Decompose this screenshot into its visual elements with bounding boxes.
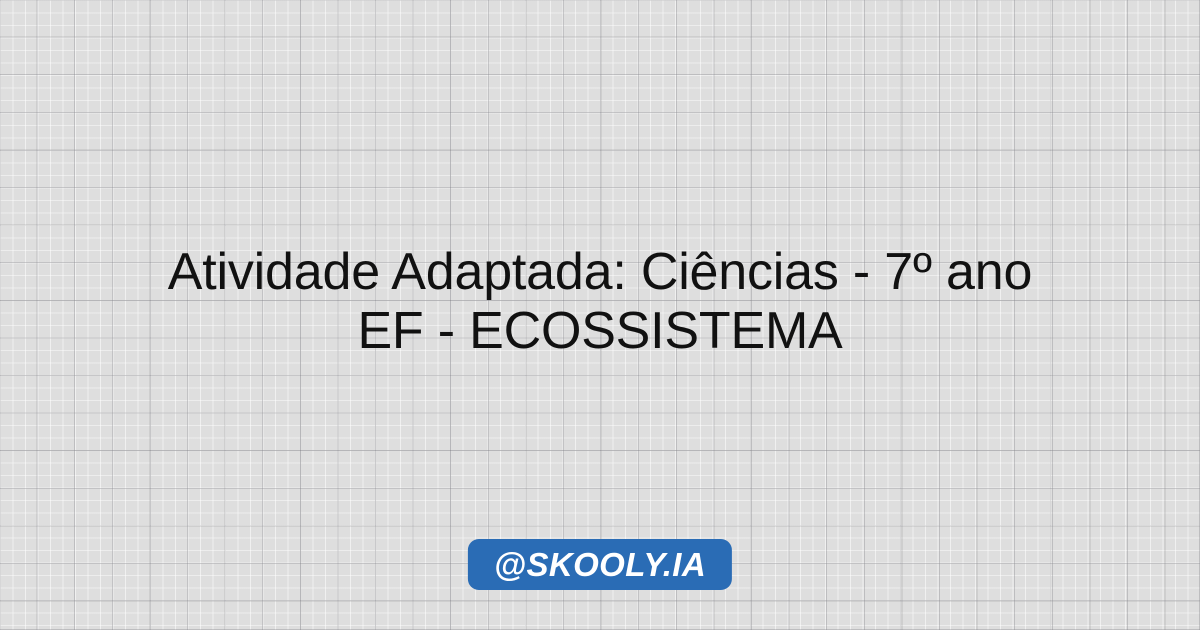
page-title: Atividade Adaptada: Ciências - 7º ano EF… bbox=[0, 243, 1200, 361]
page-title-line-2: EF - ECOSSISTEMA bbox=[24, 302, 1176, 361]
page-title-line-1: Atividade Adaptada: Ciências - 7º ano bbox=[24, 243, 1176, 302]
og-card: Atividade Adaptada: Ciências - 7º ano EF… bbox=[0, 0, 1200, 630]
brand-handle-badge[interactable]: @SKOOLY.IA bbox=[468, 539, 732, 590]
brand-handle-label: @SKOOLY.IA bbox=[494, 548, 706, 581]
